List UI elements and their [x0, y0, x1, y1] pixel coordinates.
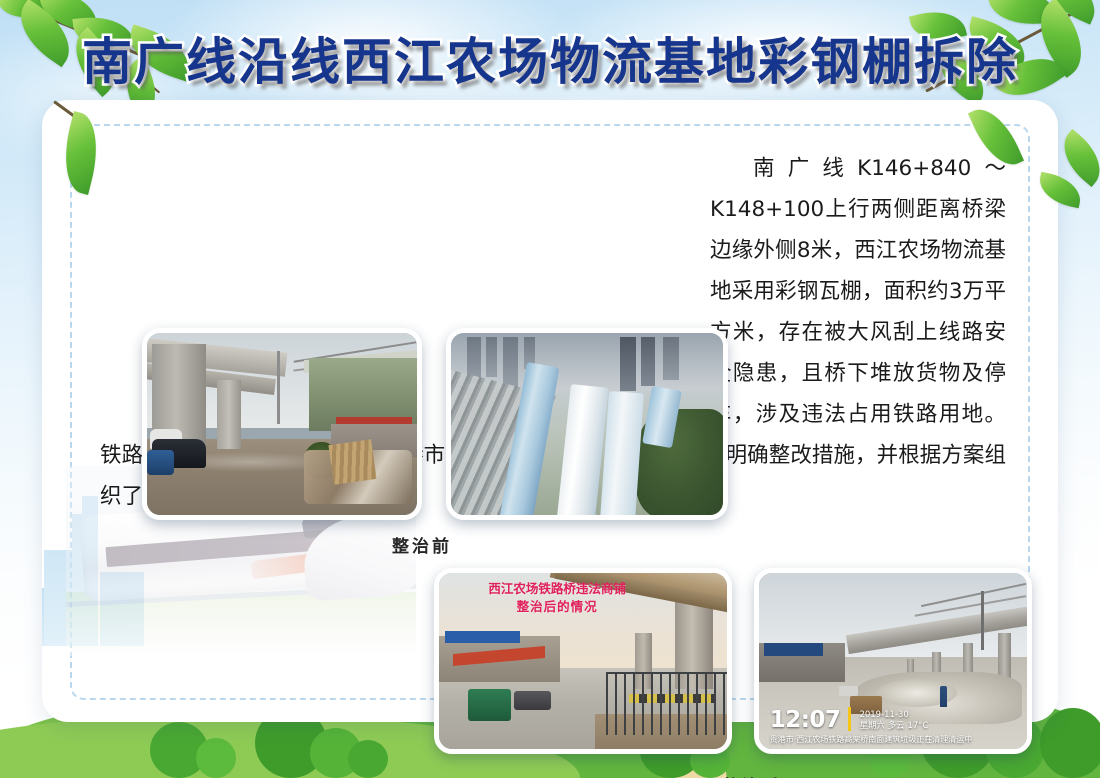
- leaf-icon: [1035, 0, 1100, 25]
- shop-sign: [764, 643, 823, 655]
- security-fence: [606, 672, 727, 735]
- shop-sign: [445, 631, 520, 643]
- timestamp-location: 贵港市·西江农场铁路高架桥南面建筑垃圾正在清理清运中: [770, 734, 1022, 745]
- tower-block: [486, 337, 497, 377]
- panel-content: 南广线K146+840～K148+100上行两侧距离桥梁边缘外侧8米，西江农场物…: [42, 100, 1058, 722]
- leaf-icon: [1052, 129, 1100, 187]
- utility-pole: [981, 591, 984, 651]
- caption-before: 整治前: [342, 532, 502, 557]
- tower-block: [503, 337, 518, 388]
- caption-after: 整治后: [662, 772, 842, 778]
- utility-pole: [277, 351, 281, 424]
- photo-before-under-bridge-image: [147, 333, 417, 515]
- worker-figure: [940, 686, 947, 707]
- pickup-truck: [514, 691, 551, 710]
- tree-icon: [196, 738, 236, 778]
- photo-before-aerial-image: [451, 333, 723, 515]
- timestamp-weekday-weather: 星期六 多云 17°C: [859, 721, 928, 732]
- photo-after-cleared-road-image: 西江农场铁路桥违法商铺 整治后的情况: [439, 573, 727, 749]
- timestamp-date-block: 2019-11-30 星期六 多云 17°C: [859, 710, 928, 732]
- photo-before-aerial: [446, 328, 728, 520]
- overlay-line-1: 西江农场铁路桥违法商铺: [488, 581, 626, 596]
- page-title: 南广线沿线西江农场物流基地彩钢棚拆除: [82, 22, 1018, 94]
- parked-car: [147, 450, 174, 475]
- tree-icon: [348, 740, 388, 778]
- bridge-pier: [217, 380, 241, 449]
- photo-after-debris-clearing: 12:07 2019-11-30 星期六 多云 17°C 贵港市·西江农场铁路高…: [754, 568, 1032, 754]
- tower-block: [620, 337, 636, 392]
- photo-overlay-caption: 西江农场铁路桥违法商铺 整治后的情况: [453, 580, 660, 616]
- poster-title-wrap: 南广线沿线西江农场物流基地彩钢棚拆除: [0, 22, 1100, 94]
- photo-before-under-bridge: [142, 328, 422, 520]
- poster-root: 南广线沿线西江农场物流基地彩钢棚拆除: [0, 0, 1100, 778]
- photo-after-debris-clearing-image: 12:07 2019-11-30 星期六 多云 17°C 贵港市·西江农场铁路高…: [759, 573, 1027, 749]
- parked-car: [839, 686, 858, 697]
- wooden-planks: [328, 439, 376, 485]
- tower-block: [663, 337, 679, 381]
- timestamp-row: 12:07 2019-11-30 星期六 多云 17°C: [770, 707, 1022, 732]
- green-tricycle-truck: [468, 689, 511, 721]
- overlay-line-2: 整治后的情况: [453, 598, 660, 616]
- timestamp-divider: [848, 707, 851, 731]
- content-panel: 南广线K146+840～K148+100上行两侧距离桥梁边缘外侧8米，西江农场物…: [42, 100, 1058, 722]
- photo-timestamp-overlay: 12:07 2019-11-30 星期六 多云 17°C 贵港市·西江农场铁路高…: [770, 707, 1022, 745]
- tower-block: [641, 337, 655, 386]
- photo-after-cleared-road: 西江农场铁路桥违法商铺 整治后的情况: [434, 568, 732, 754]
- timestamp-time: 12:07: [770, 709, 841, 732]
- timestamp-date: 2019-11-30: [859, 710, 928, 721]
